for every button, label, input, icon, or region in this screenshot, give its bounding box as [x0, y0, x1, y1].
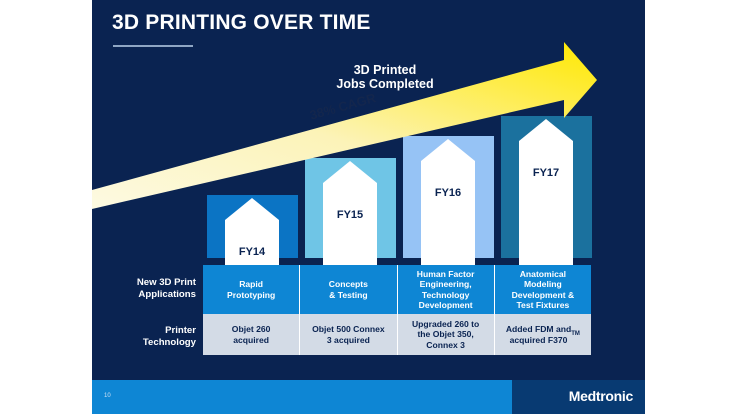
arrow-callout: 3D Printed Jobs Completed — [305, 63, 465, 91]
table-cell-app-fy16: Human FactorEngineering,TechnologyDevelo… — [398, 265, 495, 314]
bar-label-fy14: FY14 — [225, 246, 279, 258]
brand-logo: Medtronic — [569, 388, 633, 404]
table-cell-tech-fy14: Objet 260acquired — [203, 314, 300, 355]
spike-fy14: FY14 — [225, 220, 279, 271]
row-label-technology-line2: Technology — [92, 337, 196, 349]
spike-fy15: FY15 — [323, 183, 377, 271]
spike-fy16: FY16 — [421, 161, 475, 271]
table-cell-app-fy14: RapidPrototyping — [203, 265, 300, 314]
row-label-technology: Printer Technology — [92, 325, 196, 348]
arrow-callout-line1: 3D Printed — [305, 63, 465, 77]
table-cell-tech-fy15: Objet 500 Connex3 acquired — [300, 314, 397, 355]
bar-label-fy17: FY17 — [519, 167, 573, 179]
table-cell-tech-fy16: Upgraded 260 tothe Objet 350,Connex 3 — [398, 314, 495, 355]
table-row-technology: Objet 260acquired Objet 500 Connex3 acqu… — [203, 314, 591, 355]
slide-footer: 10 Medtronic — [92, 380, 645, 414]
slide-canvas: 3D PRINTING OVER TIME FY14 FY15 FY16 FY1… — [92, 0, 645, 414]
bar-label-fy15: FY15 — [323, 209, 377, 221]
table-row-applications: RapidPrototyping Concepts& Testing Human… — [203, 265, 591, 314]
footer-left-band — [92, 380, 512, 414]
applications-table: RapidPrototyping Concepts& Testing Human… — [203, 265, 591, 355]
page-number: 10 — [104, 393, 111, 399]
row-label-applications-line1: New 3D Print — [92, 277, 196, 289]
arrow-callout-line2: Jobs Completed — [305, 77, 465, 91]
row-label-applications: New 3D Print Applications — [92, 277, 196, 300]
table-cell-tech-fy17: Added FDM andacquired F370TM — [495, 314, 591, 355]
table-cell-app-fy17: AnatomicalModelingDevelopment &Test Fixt… — [495, 265, 591, 314]
row-label-applications-line2: Applications — [92, 289, 196, 301]
row-label-technology-line1: Printer — [92, 325, 196, 337]
bar-label-fy16: FY16 — [421, 187, 475, 199]
table-cell-app-fy15: Concepts& Testing — [300, 265, 397, 314]
spike-fy17: FY17 — [519, 141, 573, 271]
